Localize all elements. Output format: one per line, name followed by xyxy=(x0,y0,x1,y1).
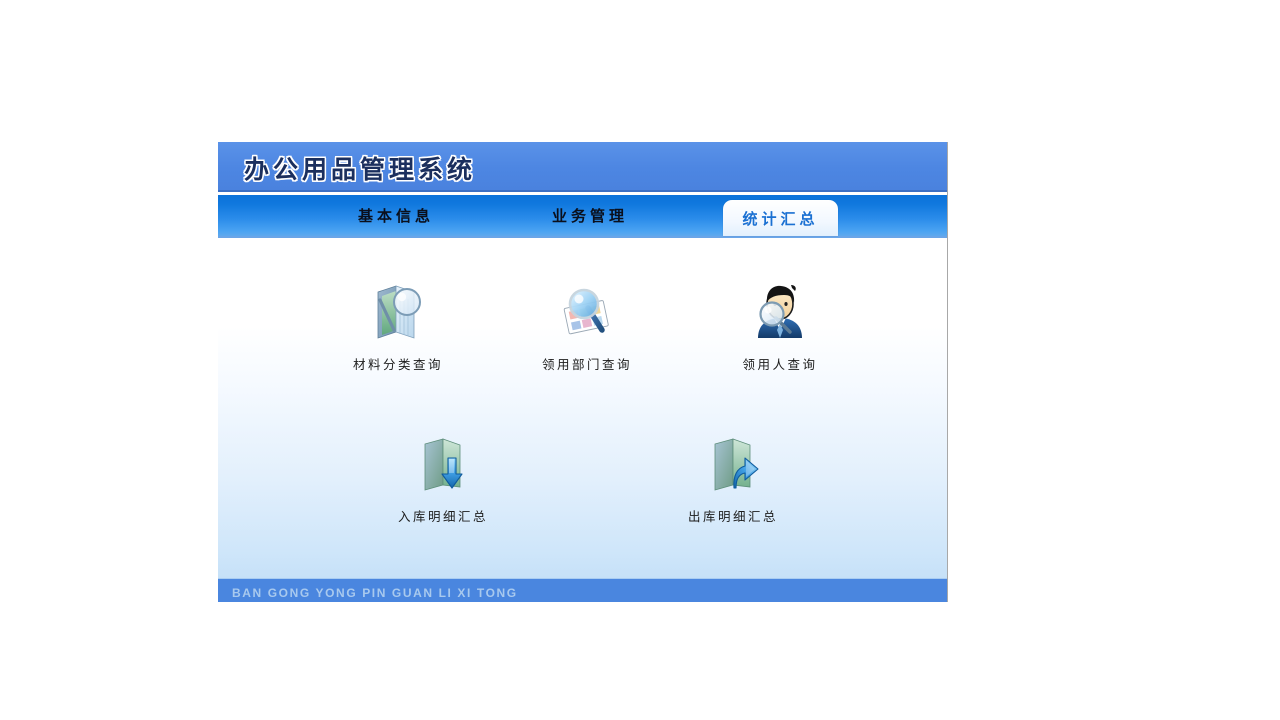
menu-item-label: 领用人查询 xyxy=(705,354,855,373)
tab-statistics-summary[interactable]: 统计汇总 xyxy=(723,200,838,236)
tab-business-management[interactable]: 业务管理 xyxy=(542,195,638,236)
menu-item-department-query[interactable]: 领用部门查询 xyxy=(512,280,662,373)
menu-item-material-category-query[interactable]: 材料分类查询 xyxy=(323,280,473,373)
app-footer: BAN GONG YONG PIN GUAN LI XI TONG xyxy=(218,578,947,602)
menu-item-label: 材料分类查询 xyxy=(323,354,473,373)
application-window: 办公用品管理系统 基本信息 业务管理 统计汇总 xyxy=(218,142,948,602)
magnifier-cards-icon xyxy=(555,280,619,344)
footer-pinyin-text: BAN GONG YONG PIN GUAN LI XI TONG xyxy=(232,586,518,600)
menu-item-label: 入库明细汇总 xyxy=(368,506,518,525)
folder-out-arrow-icon xyxy=(701,432,765,496)
page-title: 办公用品管理系统 xyxy=(244,150,476,186)
person-search-icon xyxy=(748,280,812,344)
content-area: 材料分类查询 xyxy=(218,238,947,578)
tab-basic-info[interactable]: 基本信息 xyxy=(348,195,444,236)
menu-item-recipient-query[interactable]: 领用人查询 xyxy=(705,280,855,373)
app-header: 办公用品管理系统 xyxy=(218,142,947,192)
navigation-bar: 基本信息 业务管理 统计汇总 xyxy=(218,195,947,238)
menu-item-label: 领用部门查询 xyxy=(512,354,662,373)
menu-item-label: 出库明细汇总 xyxy=(658,506,808,525)
menu-item-outbound-detail-summary[interactable]: 出库明细汇总 xyxy=(658,432,808,525)
menu-item-inbound-detail-summary[interactable]: 入库明细汇总 xyxy=(368,432,518,525)
folder-search-icon xyxy=(366,280,430,344)
folder-in-arrow-icon xyxy=(411,432,475,496)
